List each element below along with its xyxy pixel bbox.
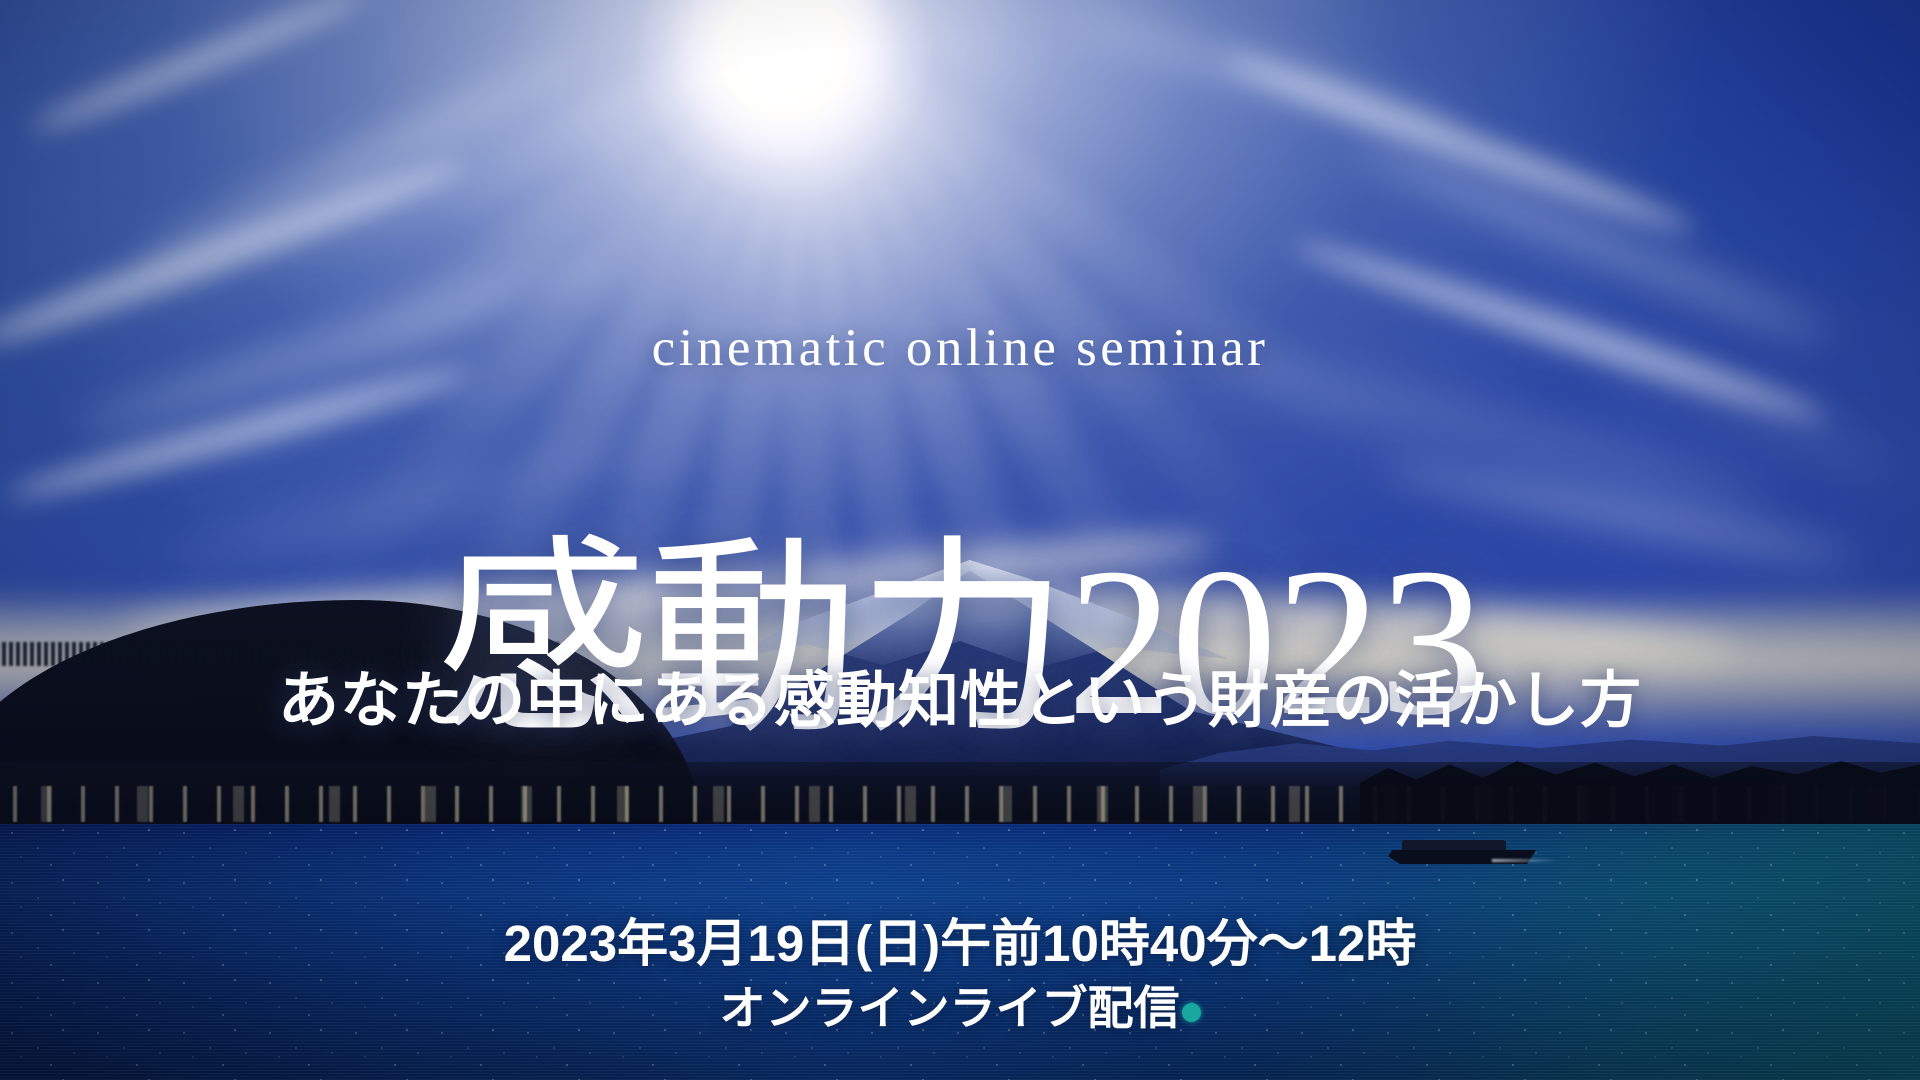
poster-text-stack: cinematic online seminar 感動力2023 あなたの中にあ… [0,0,1920,1080]
seminar-eyebrow: cinematic online seminar [0,318,1920,378]
delivery-label: オンラインライブ配信 [720,982,1180,1034]
seminar-subtitle: あなたの中にある感動知性という財産の活かし方 [0,650,1920,739]
delivery-line: オンラインライブ配信 [0,972,1920,1038]
teal-dot-icon [1182,1003,1201,1022]
seminar-datetime: 2023年3月19日(日)午前10時40分～12時 [0,902,1920,976]
seminar-poster: cinematic online seminar 感動力2023 あなたの中にあ… [0,0,1920,1080]
